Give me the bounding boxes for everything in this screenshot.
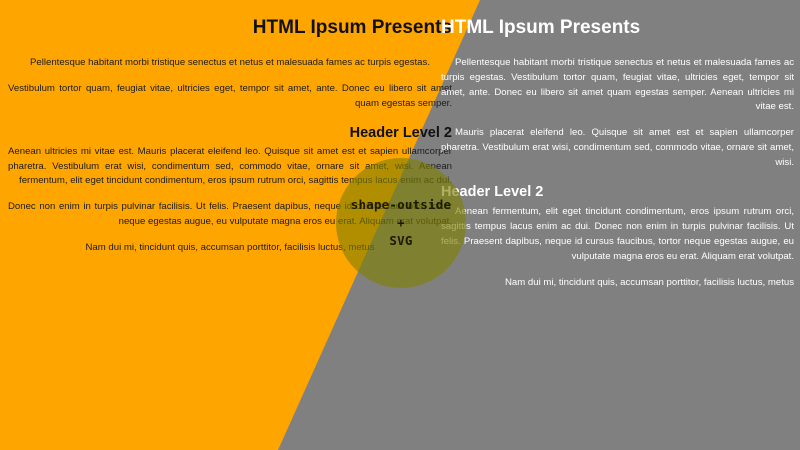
- left-page-title: HTML Ipsum Presents: [8, 17, 460, 40]
- right-paragraph-3: Aenean fermentum, elit eget tincidunt co…: [441, 205, 794, 264]
- right-paragraph-1: Pellentesque habitant morbi tristique se…: [441, 56, 794, 115]
- demo-page: HTML Ipsum Presents Pellentesque habitan…: [0, 0, 800, 450]
- left-subheading: Header Level 2: [8, 125, 460, 142]
- right-paragraph-2: Mauris placerat eleifend leo. Quisque si…: [441, 126, 794, 171]
- right-column: HTML Ipsum Presents Pellentesque habitan…: [441, 0, 800, 302]
- right-paragraph-4: Nam dui mi, tincidunt quis, accumsan por…: [441, 276, 794, 291]
- shape-outside-circle: shape-outside + SVG: [336, 158, 466, 288]
- left-paragraph-1: Pellentesque habitant morbi tristique se…: [8, 56, 460, 71]
- right-subheading: Header Level 2: [441, 184, 794, 201]
- left-paragraph-2: Vestibulum tortor quam, feugiat vitae, u…: [8, 82, 460, 112]
- right-page-title: HTML Ipsum Presents: [441, 17, 794, 40]
- shape-circle-label: shape-outside + SVG: [351, 196, 451, 250]
